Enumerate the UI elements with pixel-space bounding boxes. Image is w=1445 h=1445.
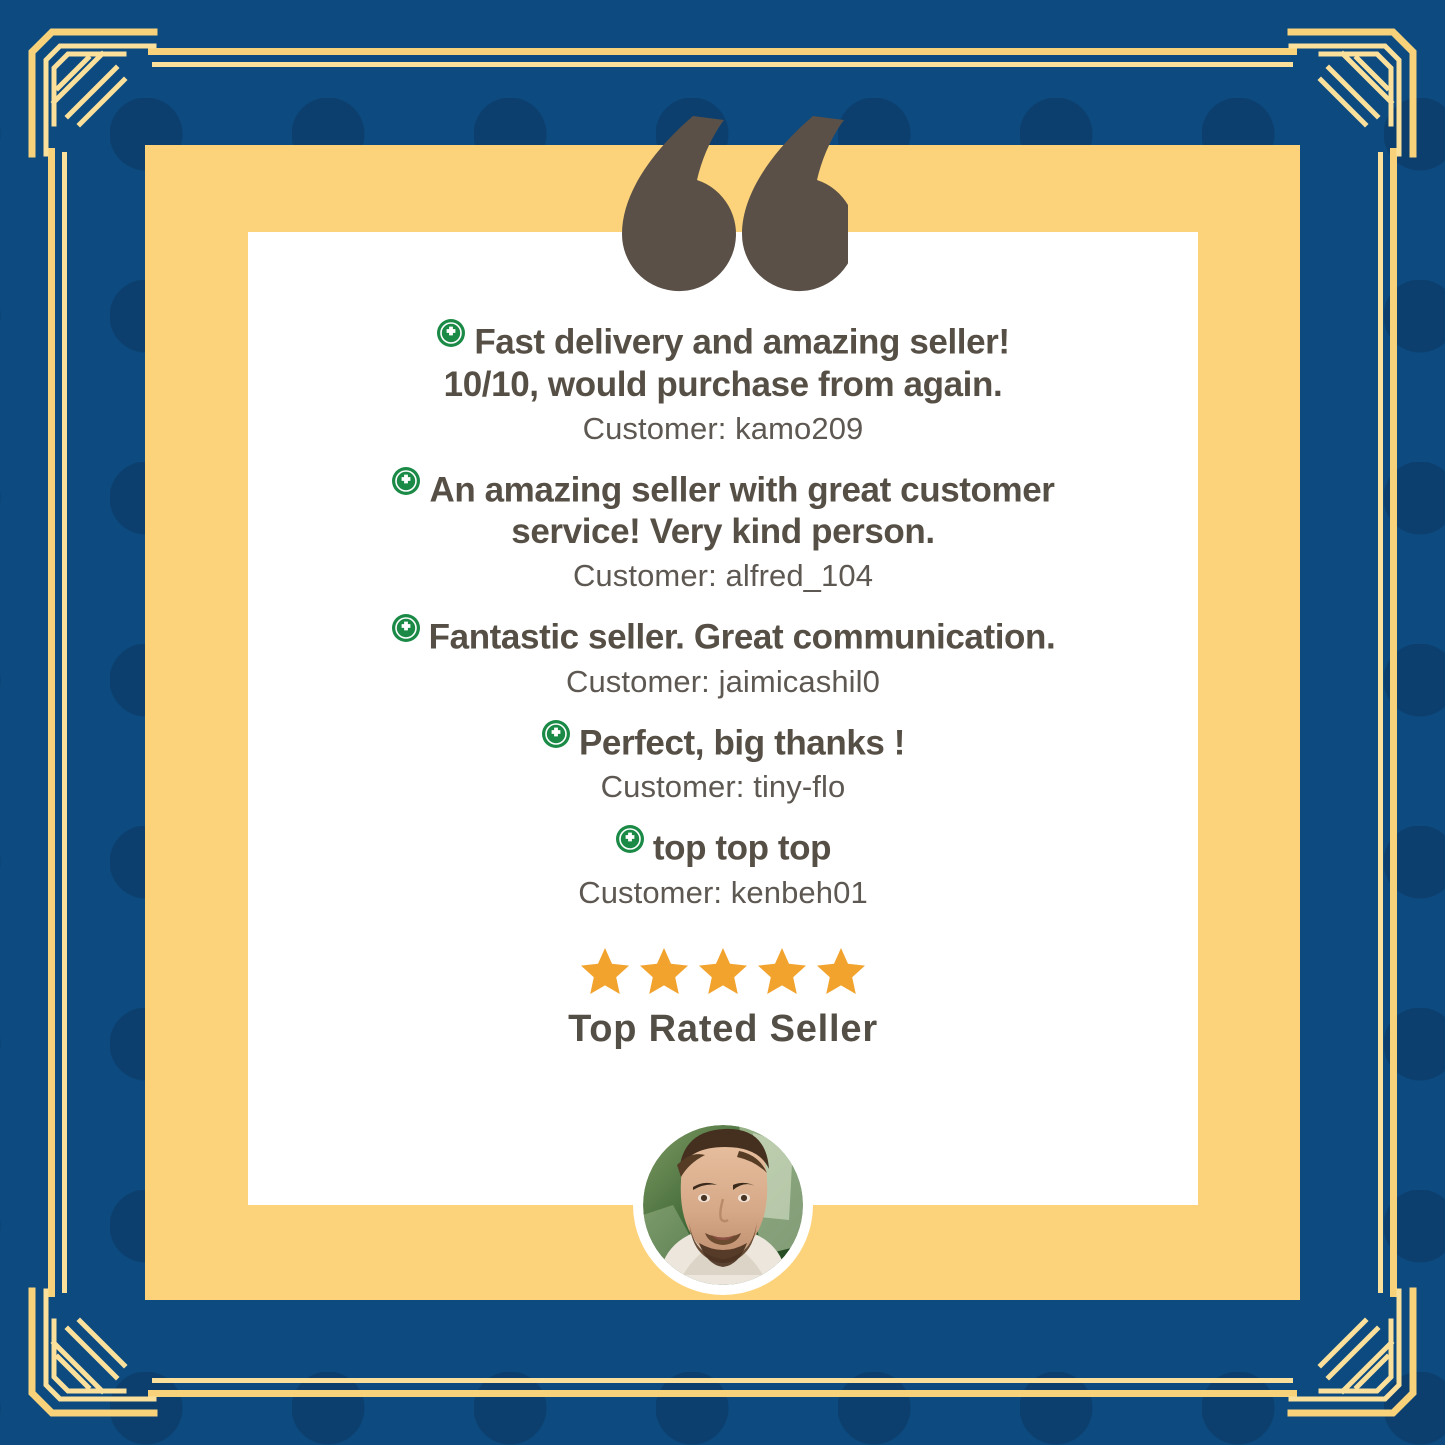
border-line-right-inner xyxy=(1378,152,1383,1293)
testimonial-customer: Customer: alfred_104 xyxy=(248,558,1198,594)
testimonial-customer: Customer: tiny-flo xyxy=(248,769,1198,805)
testimonial-quote-line-2: service! Very kind person. xyxy=(511,512,934,551)
plus-badge-icon xyxy=(541,719,571,749)
plus-badge-icon xyxy=(436,318,466,348)
testimonial-list: Fast delivery and amazing seller! 10/10,… xyxy=(248,232,1198,1205)
plus-badge-icon xyxy=(391,466,421,496)
testimonial-quote: Perfect, big thanks ! xyxy=(248,719,1198,765)
star-icon xyxy=(756,946,808,996)
seller-portrait-photo xyxy=(643,1125,803,1285)
top-rated-seller-label: Top Rated Seller xyxy=(568,1008,878,1051)
star-icon xyxy=(815,946,867,996)
testimonial-quote: Fast delivery and amazing seller! 10/10,… xyxy=(248,318,1198,406)
star-icon xyxy=(697,946,749,996)
art-deco-corner-icon xyxy=(1287,1287,1417,1417)
art-deco-corner-icon xyxy=(28,1287,158,1417)
star-icon xyxy=(638,946,690,996)
border-line-top-inner xyxy=(152,62,1293,67)
testimonial-item: top top top Customer: kenbeh01 xyxy=(248,824,1198,911)
testimonial-item: Fantastic seller. Great communication. C… xyxy=(248,613,1198,700)
testimonial-poster: Fast delivery and amazing seller! 10/10,… xyxy=(0,0,1445,1445)
testimonial-quote-line-1: Fantastic seller. Great communication. xyxy=(429,618,1056,657)
border-line-left-inner xyxy=(62,152,67,1293)
art-deco-corner-icon xyxy=(1287,28,1417,158)
border-line-top xyxy=(148,48,1297,55)
testimonial-quote-line-1: top top top xyxy=(653,829,831,868)
border-line-left xyxy=(48,148,55,1297)
border-line-right xyxy=(1390,148,1397,1297)
testimonial-quote-line-1: Perfect, big thanks ! xyxy=(579,723,905,762)
testimonial-quote-line-1: An amazing seller with great customer xyxy=(429,470,1054,509)
plus-badge-icon xyxy=(391,613,421,643)
testimonial-item: Perfect, big thanks ! Customer: tiny-flo xyxy=(248,719,1198,806)
border-line-bottom-inner xyxy=(152,1378,1293,1383)
star-icon xyxy=(579,946,631,996)
testimonial-quote: Fantastic seller. Great communication. xyxy=(248,613,1198,659)
testimonial-customer: Customer: kenbeh01 xyxy=(248,875,1198,911)
testimonial-quote: top top top xyxy=(248,824,1198,870)
border-line-bottom xyxy=(148,1390,1297,1397)
star-rating xyxy=(579,946,867,996)
testimonial-quote-line-2: 10/10, would purchase from again. xyxy=(444,365,1003,404)
testimonial-item: An amazing seller with great customer se… xyxy=(248,466,1198,595)
testimonial-quote: An amazing seller with great customer se… xyxy=(248,466,1198,554)
testimonial-item: Fast delivery and amazing seller! 10/10,… xyxy=(248,318,1198,447)
testimonial-customer: Customer: jaimicashil0 xyxy=(248,664,1198,700)
testimonial-quote-line-1: Fast delivery and amazing seller! xyxy=(474,323,1009,362)
testimonial-customer: Customer: kamo209 xyxy=(248,411,1198,447)
art-deco-corner-icon xyxy=(28,28,158,158)
avatar xyxy=(633,1115,813,1295)
plus-badge-icon xyxy=(615,824,645,854)
